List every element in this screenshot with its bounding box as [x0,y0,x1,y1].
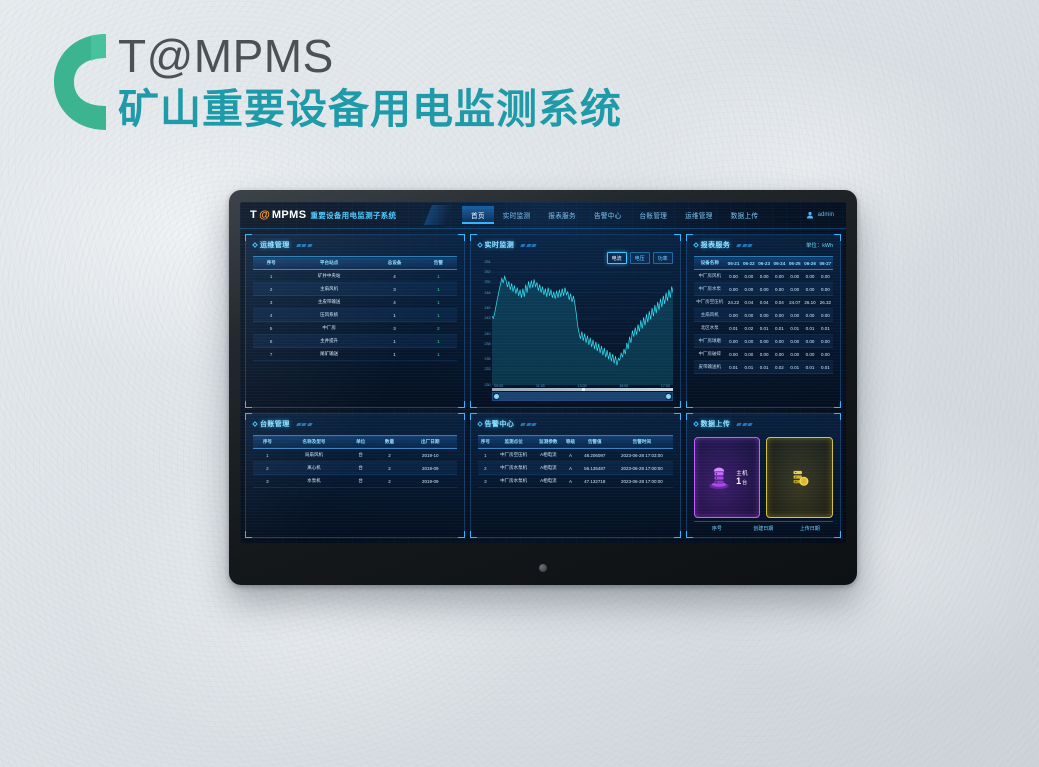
diamond-bullet-icon [477,421,483,427]
panel-alarm-center: 告警中心 序号监测点位监测参数等级告警值告警时间1中厂房空压机A相电流A48.2… [470,413,681,538]
cell-3: 0.00 [756,309,771,322]
cell-5: 0.00 [787,335,802,348]
cell-0: 中厂房水泵 [694,283,726,296]
monitor-device: T@MPMS 重要设备用电监测子系统 首页 实时监测 报表服务 告警中心 台账管… [229,190,857,585]
chart-scroll-track[interactable] [492,388,673,391]
app-logo-t: T [250,209,257,221]
cell-2: A相电流 [534,462,563,475]
cell-2: 1 [369,309,420,322]
nav-item-data-upload[interactable]: 数据上传 [722,206,768,224]
cell-1: 尾矿输送 [289,348,369,361]
col-header-3: 等级 [563,435,579,448]
col-header-4: 06-24 [772,257,787,270]
database-coin-icon [787,465,813,491]
y-tick-label: 233 [485,367,491,371]
cell-1: 0.00 [726,309,741,322]
table-row[interactable]: 1中厂房空压机A相电流A48.2060972023-06-28 17:03:00 [478,449,673,462]
col-header-1: 监测点位 [493,435,534,448]
y-tick-label: 238 [485,342,491,346]
col-header-2: 单位 [346,435,375,448]
cell-2: 0.00 [741,348,756,361]
app-logo-subtitle: 重要设备用电监测子系统 [310,210,396,221]
cell-5: 0.00 [787,283,802,296]
col-header-1: 06-21 [726,257,741,270]
poster-brand: T@MPMS [118,32,622,80]
upload-footer-columns: 序号 创建日期 上传日期 [694,521,833,532]
report-table-wrap: 设备名称06-2106-2206-2306-2406-2506-2606-27中… [694,256,833,402]
panel-title-upload: 数据上传 [701,419,731,429]
cell-3: 0.04 [756,296,771,309]
cell-1: 0.01 [726,361,741,374]
cell-5: 0.00 [787,270,802,283]
upload-card-list: 主机 1台 [694,435,833,522]
top-navigation-bar: T@MPMS 重要设备用电监测子系统 首页 实时监测 报表服务 告警中心 台账管… [240,202,846,229]
cell-7: 26.32 [818,296,833,309]
app-logo-mpms: MPMS [272,209,307,221]
cell-3: 2 [375,449,404,462]
cell-2: 台 [346,449,375,462]
table-row[interactable]: 3水泵机台22019-09 [253,475,457,488]
chart-button-current[interactable]: 电流 [607,252,627,264]
cell-0: 主扇风机 [694,309,726,322]
diamond-bullet-icon [477,242,483,248]
panel-header-report: 报表服务 单位：kWh [687,235,840,252]
panel-header-upload: 数据上传 [687,414,840,431]
cell-1: 0.00 [726,270,741,283]
panel-report-service: 报表服务 单位：kWh 设备名称06-2106-2206-2306-2406-2… [686,234,841,408]
alarm-table: 序号监测点位监测参数等级告警值告警时间1中厂房空压机A相电流A48.206097… [478,435,673,488]
col-header-3: 数量 [375,435,404,448]
cell-3: A [563,449,579,462]
cell-0: 7 [253,348,289,361]
header-decoration [521,423,536,426]
col-header-5: 告警时间 [611,435,673,448]
col-header-1: 名称及型号 [282,435,346,448]
cell-2: 台 [346,462,375,475]
table-row[interactable]: 主扇风机0.000.000.000.000.000.000.00 [694,309,833,322]
cell-0: 北区水泵 [694,322,726,335]
dashboard: T@MPMS 重要设备用电监测子系统 首页 实时监测 报表服务 告警中心 台账管… [240,202,846,543]
cell-0: 3 [253,475,282,488]
realtime-chart-area: 电流 电压 功率 2302332352382402432452482502522… [478,254,673,401]
slider-handle-left[interactable] [494,394,499,399]
col-header-6: 06-26 [802,257,817,270]
y-tick-label: 235 [485,357,491,361]
table-row[interactable]: 2主扇风机31 [253,283,457,296]
cell-6: 0.01 [802,322,817,335]
cell-2: 0.00 [741,309,756,322]
col-header-1: 平台站点 [289,257,369,270]
y-tick-label: 254 [485,260,491,264]
col-header-7: 06-27 [818,257,833,270]
cell-1: 中厂房空压机 [493,449,534,462]
col-header-2: 06-22 [741,257,756,270]
cell-1: 矿井中央站 [289,270,369,283]
y-tick-label: 248 [485,291,491,295]
header-decoration [297,423,312,426]
table-row[interactable]: 4压风系统11 [253,309,457,322]
x-tick-label: 09:00 [494,384,503,388]
cell-0: 中厂房空压机 [694,296,726,309]
cell-0: 2 [478,462,494,475]
cell-0: 皮带输送机 [694,361,726,374]
cell-4: 0.01 [772,322,787,335]
cell-3: 1 [420,296,456,309]
cell-2: 0.01 [741,361,756,374]
table-row[interactable]: 3主皮带输送41 [253,296,457,309]
upload-content: 主机 1台 [694,435,833,532]
header-decoration [297,244,312,247]
cell-4: 0.00 [772,335,787,348]
cell-4: 0.00 [772,309,787,322]
cell-2: 3 [369,283,420,296]
poster-header: T@MPMS 矿山重要设备用电监测系统 [48,26,622,138]
chart-button-power[interactable]: 功率 [653,252,673,264]
panel-ops-management: 运维管理 序号平台站点总设备告警1矿井中央站412主扇风机313主皮带输送414… [245,234,465,408]
table-row[interactable]: 7尾矿输送11 [253,348,457,361]
table-row[interactable]: 5中厂房32 [253,322,457,335]
y-tick-label: 245 [485,306,491,310]
chart-metric-buttons: 电流 电压 功率 [607,252,673,264]
cell-3: 0.00 [756,283,771,296]
cell-7: 0.00 [818,270,833,283]
table-row[interactable]: 中厂房球磨0.000.000.000.000.000.000.00 [694,335,833,348]
cell-1: 水泵机 [282,475,346,488]
cell-3: 0.01 [756,361,771,374]
table-row[interactable]: 1矿井中央站41 [253,270,457,283]
nav-item-home[interactable]: 首页 [462,206,494,224]
cell-5: 0.00 [787,348,802,361]
col-header-3: 06-23 [756,257,771,270]
user-icon [806,211,814,219]
cell-0: 中厂房破碎 [694,348,726,361]
cell-6: 26.10 [802,296,817,309]
upload-col-created: 创建日期 [740,525,786,532]
table-row[interactable]: 3中厂房水泵机A相电流A47.1327182023-06-28 17:00:00 [478,475,673,488]
cell-2: 0.00 [741,283,756,296]
dashboard-grid: 实时监测 电流 电压 功率 23023323523824024324524825… [240,229,846,543]
cell-5: 24.07 [787,296,802,309]
cell-3: 1 [420,309,456,322]
cell-0: 1 [478,449,494,462]
cell-1: 中厂房水泵机 [493,475,534,488]
y-tick-label: 250 [485,280,491,284]
cell-4: 0.00 [772,348,787,361]
chart-button-voltage[interactable]: 电压 [630,252,650,264]
y-tick-label: 243 [485,316,491,320]
monitor-bezel: T@MPMS 重要设备用电监测子系统 首页 实时监测 报表服务 告警中心 台账管… [229,190,857,585]
cell-1: 离心机 [282,462,346,475]
cell-1: 压风系统 [289,309,369,322]
brand-logo-icon [48,26,112,138]
upload-col-uploaded: 上传日期 [787,525,833,532]
upload-card-data[interactable] [766,437,833,519]
panel-header-realtime: 实时监测 [471,235,680,252]
cell-3: 1 [420,283,456,296]
cell-3: 1 [420,335,456,348]
nav-item-report-service[interactable]: 报表服务 [539,206,585,224]
cell-5: 0.01 [787,361,802,374]
upload-col-index: 序号 [694,525,740,532]
table-row[interactable]: 6主井提升11 [253,335,457,348]
cell-1: 局扇风机 [282,449,346,462]
cell-0: 2 [253,462,282,475]
cell-0: 中厂房风机 [694,270,726,283]
upload-card-host-count: 1台 [736,477,747,487]
cell-4: 2019-09 [404,462,457,475]
upload-card-host-meta: 主机 1台 [736,469,748,487]
cell-0: 1 [253,449,282,462]
nav-item-alarm-center[interactable]: 告警中心 [585,206,631,224]
cell-0: 5 [253,322,289,335]
table-row[interactable]: 中厂房破碎0.000.000.000.000.000.000.00 [694,348,833,361]
panel-title-ledger: 台账管理 [260,419,290,429]
nav-user-area[interactable]: admin [806,211,846,219]
diamond-bullet-icon [252,421,258,427]
cell-2: 1 [369,348,420,361]
table-row[interactable]: 中厂房水泵0.000.000.000.000.000.000.00 [694,283,833,296]
cell-7: 0.00 [818,348,833,361]
cell-3: 2 [420,322,456,335]
y-tick-label: 230 [485,383,491,387]
nav-item-ledger-management[interactable]: 台账管理 [631,206,677,224]
cell-6: 0.00 [802,335,817,348]
cell-2: 台 [346,475,375,488]
header-decoration [737,244,752,247]
cell-3: 0.00 [756,335,771,348]
panel-header-alarm: 告警中心 [471,414,680,431]
table-row[interactable]: 北区水泵0.010.020.010.010.010.010.01 [694,322,833,335]
cell-3: 0.00 [756,270,771,283]
server-stack-icon [706,465,732,491]
cell-1: 24.22 [726,296,741,309]
cell-2: A相电流 [534,449,563,462]
cell-6: 0.00 [802,283,817,296]
cell-5: 0.01 [787,322,802,335]
panel-ledger-management: 台账管理 序号名称及型号单位数量出厂日期1局扇风机台22019-102离心机台2… [245,413,465,538]
cell-7: 0.00 [818,283,833,296]
cell-4: 2019-09 [404,475,457,488]
cell-1: 0.00 [726,348,741,361]
cell-1: 0.01 [726,322,741,335]
user-name-label: admin [818,212,834,218]
cell-1: 中厂房 [289,322,369,335]
col-header-0: 设备名称 [694,257,726,270]
chart-y-axis: 230233235238240243245248250252254 [478,262,492,385]
cell-4: 0.02 [772,361,787,374]
cell-3: 2 [375,475,404,488]
cell-2: 3 [369,322,420,335]
y-tick-label: 252 [485,270,491,274]
cell-3: 1 [420,270,456,283]
app-logo[interactable]: T@MPMS 重要设备用电监测子系统 [240,202,440,228]
cell-0: 1 [253,270,289,283]
cell-2: 0.02 [741,322,756,335]
panel-title-alarm: 告警中心 [485,419,515,429]
cell-7: 0.00 [818,309,833,322]
monitor-screen: T@MPMS 重要设备用电监测子系统 首页 实时监测 报表服务 告警中心 台账管… [240,202,846,543]
ops-table: 序号平台站点总设备告警1矿井中央站412主扇风机313主皮带输送414压风系统1… [253,256,457,361]
ledger-table-wrap: 序号名称及型号单位数量出厂日期1局扇风机台22019-102离心机台22019-… [253,435,457,532]
cell-5: 2023-06-28 17:00:00 [611,462,673,475]
cell-6: 0.01 [802,361,817,374]
cell-2: 1 [369,335,420,348]
col-header-5: 06-25 [787,257,802,270]
report-table: 设备名称06-2106-2206-2306-2406-2506-2606-27中… [694,256,833,374]
cell-3: 2 [375,462,404,475]
table-row[interactable]: 中厂房空压机24.220.040.040.0424.0726.1026.32 [694,296,833,309]
chart-range-slider[interactable] [492,392,673,401]
y-tick-label: 240 [485,332,491,336]
cell-1: 主井提升 [289,335,369,348]
panel-data-upload: 数据上传 [686,413,841,538]
cell-4: 0.04 [772,296,787,309]
cell-1: 中厂房水泵机 [493,462,534,475]
header-decoration [737,423,752,426]
col-header-0: 序号 [253,257,289,270]
cell-0: 3 [478,475,494,488]
table-row[interactable]: 皮带输送机0.010.010.010.020.010.010.01 [694,361,833,374]
cell-2: 0.04 [741,296,756,309]
report-unit-label: 单位：kWh [806,241,833,249]
table-row[interactable]: 中厂房风机0.000.000.000.000.000.000.00 [694,270,833,283]
cell-3: A [563,475,579,488]
cell-5: 0.00 [787,309,802,322]
cell-0: 6 [253,335,289,348]
cell-7: 0.01 [818,322,833,335]
slider-fill [499,393,666,400]
cell-4: 2019-10 [404,449,457,462]
cell-3: 0.01 [756,322,771,335]
cell-0: 3 [253,296,289,309]
col-header-4: 告警值 [578,435,611,448]
app-logo-at: @ [259,209,270,221]
cell-7: 0.01 [818,361,833,374]
cell-0: 4 [253,309,289,322]
cell-2: 0.00 [741,270,756,283]
slider-handle-right[interactable] [666,394,671,399]
cell-3: 1 [420,348,456,361]
cell-0: 中厂房球磨 [694,335,726,348]
panel-title-ops: 运维管理 [260,240,290,250]
x-tick-label: 17:00 [661,384,670,388]
col-header-0: 序号 [253,435,282,448]
col-header-2: 监测参数 [534,435,563,448]
cell-1: 0.00 [726,283,741,296]
cell-6: 0.00 [802,270,817,283]
nav-item-list: 首页 实时监测 报表服务 告警中心 台账管理 运维管理 数据上传 [462,206,767,224]
header-decoration [521,244,536,247]
diamond-bullet-icon [252,242,258,248]
col-header-0: 序号 [478,435,494,448]
cell-4: 0.00 [772,283,787,296]
nav-item-realtime-monitoring[interactable]: 实时监测 [494,206,540,224]
ops-table-wrap: 序号平台站点总设备告警1矿井中央站412主扇风机313主皮带输送414压风系统1… [253,256,457,402]
col-header-2: 总设备 [369,257,420,270]
cell-2: A相电流 [534,475,563,488]
panel-header-ops: 运维管理 [246,235,464,252]
col-header-3: 告警 [420,257,456,270]
panel-title-realtime: 实时监测 [485,240,515,250]
cell-0: 2 [253,283,289,296]
chart-plot [492,262,673,385]
cell-1: 主扇风机 [289,283,369,296]
table-row[interactable]: 1局扇风机台22019-10 [253,449,457,462]
cell-4: 0.00 [772,270,787,283]
cell-2: 4 [369,270,420,283]
table-row[interactable]: 2离心机台22019-09 [253,462,457,475]
cell-2: 0.00 [741,335,756,348]
x-tick-label: 15:00 [619,384,628,388]
poster-subtitle: 矿山重要设备用电监测系统 [118,84,622,135]
panel-realtime-monitoring: 实时监测 电流 电压 功率 23023323523824024324524825… [470,234,681,408]
col-header-4: 出厂日期 [404,435,457,448]
alarm-table-wrap: 序号监测点位监测参数等级告警值告警时间1中厂房空压机A相电流A48.206097… [478,435,673,532]
table-row[interactable]: 2中厂房水泵机A相电流A56.1354872023-06-28 17:00:00 [478,462,673,475]
cell-4: 56.135487 [578,462,611,475]
nav-item-ops-management[interactable]: 运维管理 [676,206,722,224]
panel-header-ledger: 台账管理 [246,414,464,431]
ledger-table: 序号名称及型号单位数量出厂日期1局扇风机台22019-102离心机台22019-… [253,435,457,488]
cell-2: 4 [369,296,420,309]
cell-1: 0.00 [726,335,741,348]
cell-1: 主皮带输送 [289,296,369,309]
diamond-bullet-icon [693,242,699,248]
cell-3: A [563,462,579,475]
diamond-bullet-icon [693,421,699,427]
cell-3: 0.00 [756,348,771,361]
cell-7: 0.00 [818,335,833,348]
upload-card-host[interactable]: 主机 1台 [694,437,761,519]
cell-5: 2023-06-28 17:03:00 [611,449,673,462]
x-tick-label: 11:00 [536,384,545,388]
cell-4: 47.132718 [578,475,611,488]
cell-4: 48.206097 [578,449,611,462]
cell-5: 2023-06-28 17:00:00 [611,475,673,488]
cell-6: 0.00 [802,348,817,361]
panel-title-report: 报表服务 [701,240,731,250]
cell-6: 0.00 [802,309,817,322]
